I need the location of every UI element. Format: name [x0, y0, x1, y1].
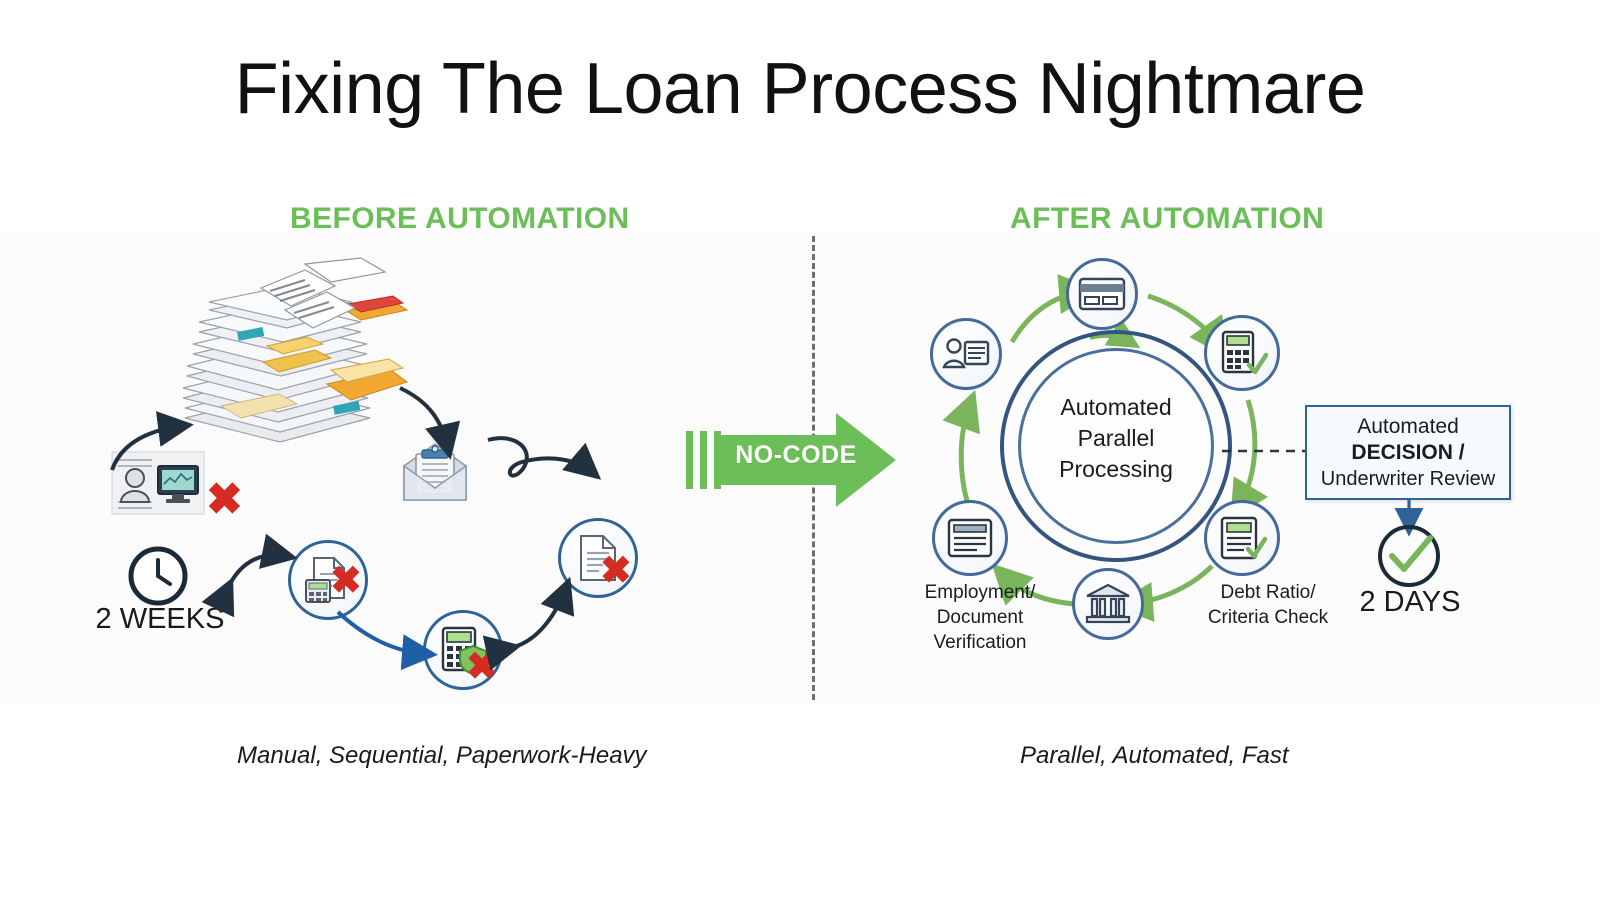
- document-lines-icon: [947, 518, 993, 558]
- after-duration-label: 2 DAYS: [1330, 586, 1490, 619]
- decision-box-line-2: DECISION /: [1351, 440, 1464, 466]
- ring-to-decision-connector: [1222, 440, 1314, 462]
- no-code-speed-bars: [686, 431, 721, 489]
- process-center-line-2: Parallel: [1018, 423, 1214, 454]
- document-verification-node: [932, 500, 1008, 576]
- no-code-label: NO-CODE: [726, 441, 866, 470]
- before-caption: Manual, Sequential, Paperwork-Heavy: [237, 742, 647, 770]
- before-automation-heading: BEFORE AUTOMATION: [290, 202, 630, 236]
- person-id-card-icon: [943, 337, 989, 371]
- statement-check-icon: [1218, 515, 1266, 561]
- process-center-line-3: Processing: [1018, 454, 1214, 485]
- credit-card-icon: [1079, 278, 1125, 310]
- credit-card-check-node: [1066, 258, 1138, 330]
- success-check-icon: [1386, 534, 1434, 578]
- calculator-approved-node: [1204, 315, 1280, 391]
- decision-box-line-1: Automated: [1357, 414, 1459, 440]
- applicant-identity-node: [930, 318, 1002, 390]
- process-center-label: Automated Parallel Processing: [1018, 392, 1214, 485]
- before-flow-arrows: [70, 360, 710, 690]
- page-title: Fixing The Loan Process Nightmare: [0, 48, 1600, 130]
- after-caption: Parallel, Automated, Fast: [1020, 742, 1289, 770]
- infographic-canvas: Fixing The Loan Process Nightmare BEFORE…: [0, 0, 1600, 900]
- automated-decision-box: Automated DECISION / Underwriter Review: [1305, 405, 1511, 500]
- income-statement-approved-node: [1204, 500, 1280, 576]
- after-automation-heading: AFTER AUTOMATION: [1010, 202, 1324, 236]
- bank-building-icon: [1086, 584, 1130, 624]
- no-code-connector: NO-CODE: [686, 413, 896, 507]
- process-center-line-1: Automated: [1018, 392, 1214, 423]
- calculator-check-icon: [1218, 329, 1266, 377]
- decision-box-line-3: Underwriter Review: [1321, 466, 1496, 492]
- employment-verification-label: Employment/ Document Verification: [890, 580, 1070, 655]
- bank-verification-node: [1072, 568, 1144, 640]
